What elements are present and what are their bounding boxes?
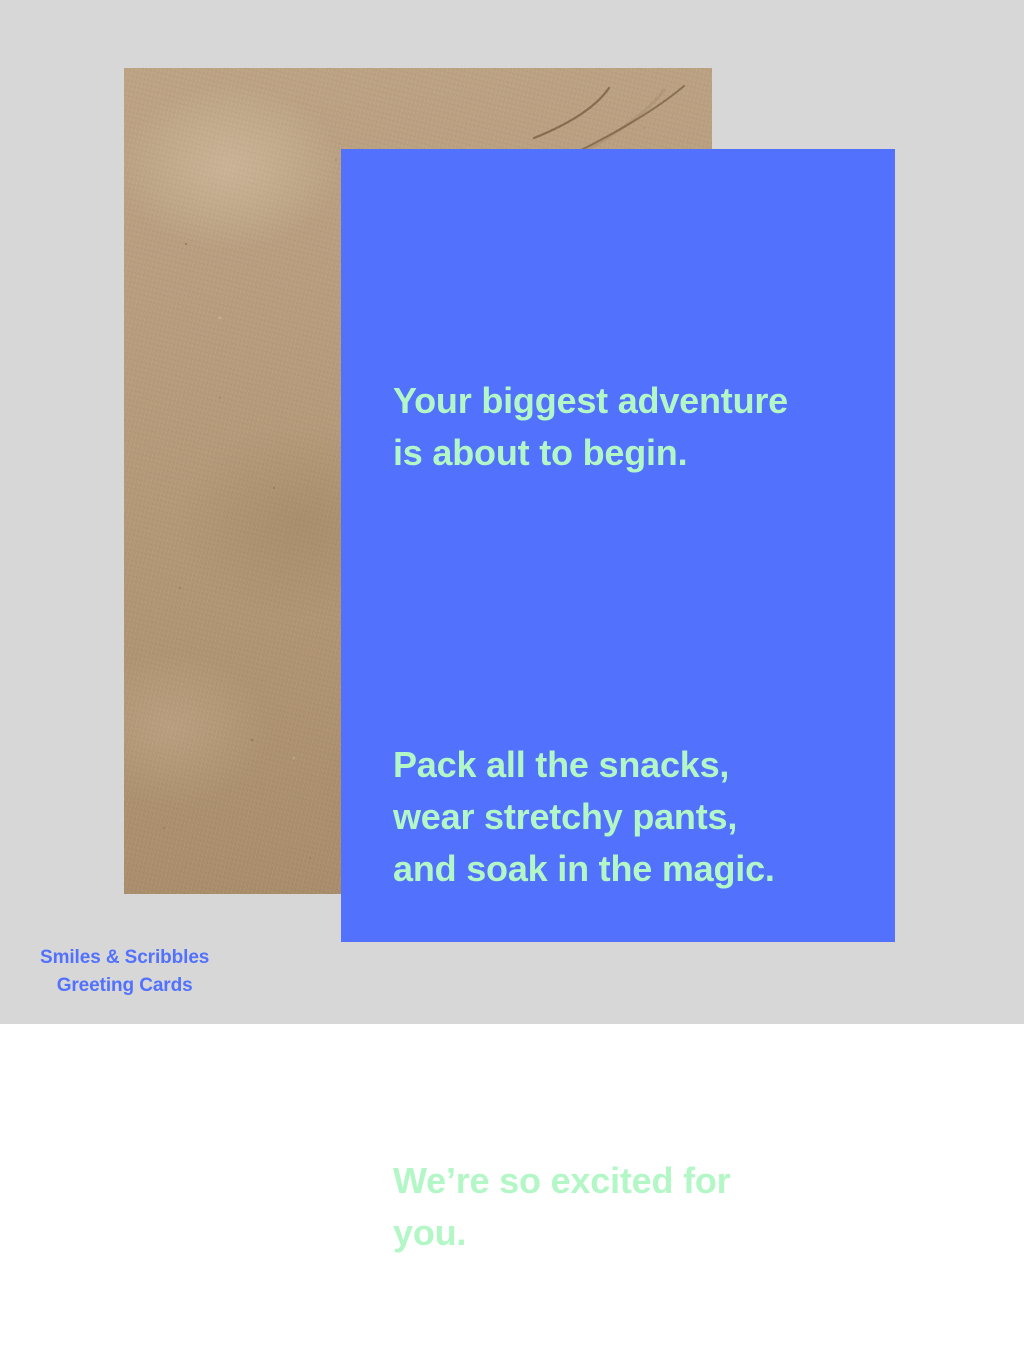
card-message-paragraph-3: We’re so excited for you. — [393, 1155, 871, 1259]
card-message-paragraph-1: Your biggest adventure is about to begin… — [393, 375, 871, 479]
card-message-text: Your biggest adventure is about to begin… — [393, 271, 871, 1363]
brand-name: Smiles & Scribbles — [40, 944, 209, 972]
paragraph-spacer — [393, 583, 871, 635]
card-message-paragraph-2: Pack all the snacks, wear stretchy pants… — [393, 739, 871, 895]
brand-tagline: Greeting Cards — [40, 972, 209, 1000]
greeting-card: Your biggest adventure is about to begin… — [341, 149, 895, 942]
brand-caption: Smiles & Scribbles Greeting Cards — [40, 944, 209, 1000]
card-mockup-scene: Your biggest adventure is about to begin… — [0, 0, 1024, 1024]
paragraph-spacer — [393, 999, 871, 1051]
